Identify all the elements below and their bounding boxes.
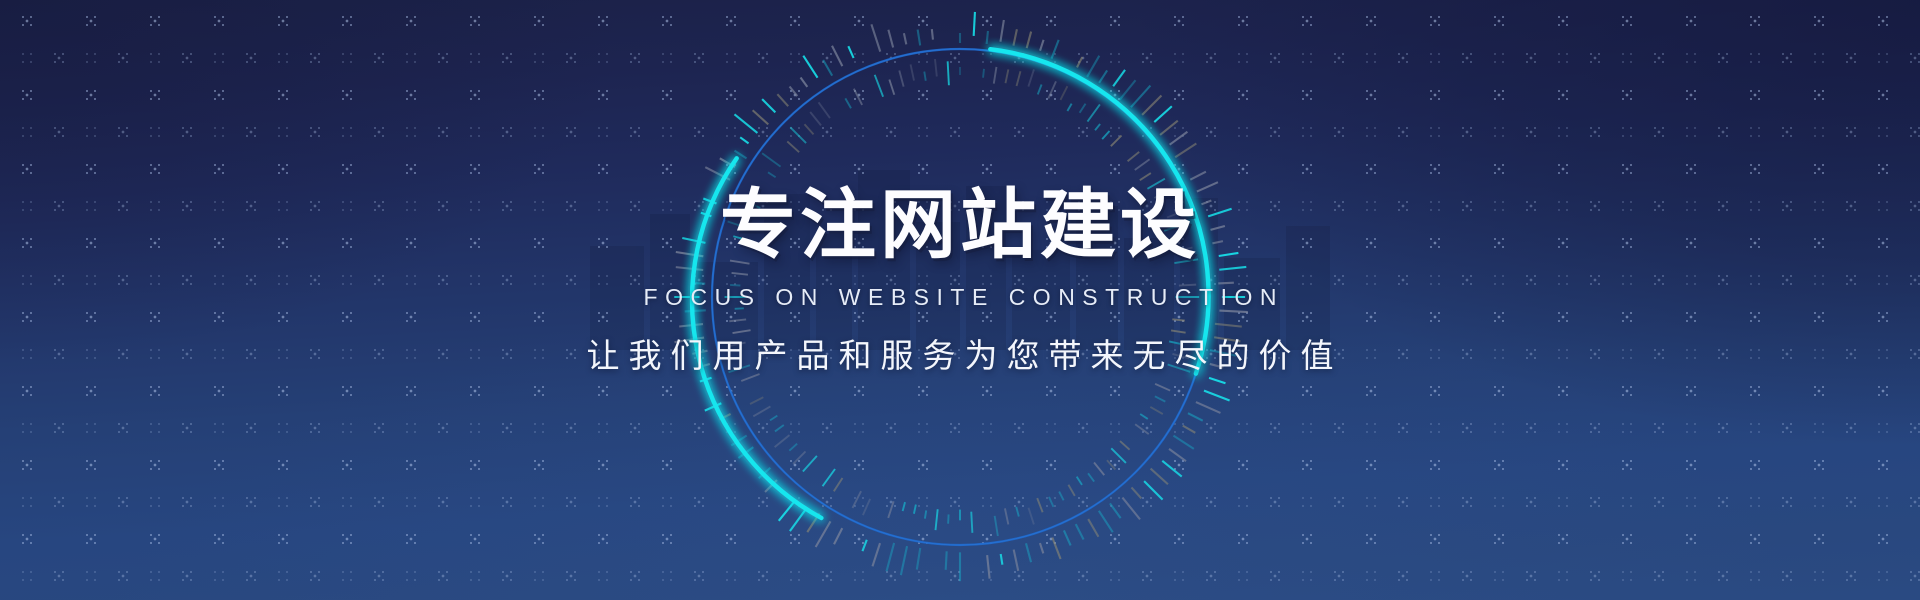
ring-tick bbox=[803, 456, 817, 472]
hero-banner: 专注网站建设 FOCUS ON WEBSITE CONSTRUCTION 让我们… bbox=[0, 0, 1920, 600]
ring-tick bbox=[741, 374, 759, 381]
ring-tick bbox=[740, 137, 748, 143]
ring-tick bbox=[803, 56, 817, 78]
ring-tick bbox=[1040, 543, 1043, 553]
ring-tick bbox=[1028, 508, 1033, 525]
ring-tick bbox=[823, 469, 835, 486]
ring-tick bbox=[848, 46, 853, 58]
ring-tick bbox=[1162, 461, 1181, 477]
ring-tick bbox=[819, 102, 830, 118]
ring-tick bbox=[1196, 402, 1221, 413]
ring-tick bbox=[801, 78, 808, 87]
banner-title: 专注网站建设 bbox=[0, 188, 1920, 264]
ring-tick bbox=[834, 478, 843, 491]
ring-tick bbox=[1113, 70, 1125, 86]
ring-tick bbox=[734, 114, 757, 133]
ring-tick bbox=[1151, 469, 1168, 485]
ring-tick bbox=[854, 89, 862, 105]
ring-tick bbox=[1088, 473, 1094, 481]
ring-tick bbox=[777, 94, 788, 106]
ring-tick bbox=[1140, 173, 1151, 180]
ring-tick bbox=[875, 75, 883, 97]
ring-tick bbox=[719, 414, 730, 420]
ring-tick bbox=[1102, 131, 1109, 139]
ring-tick bbox=[1160, 121, 1178, 135]
ring-tick bbox=[759, 468, 771, 478]
ring-tick bbox=[1144, 481, 1162, 499]
ring-tick bbox=[790, 87, 798, 97]
banner-text-block: 专注网站建设 FOCUS ON WEBSITE CONSTRUCTION 让我们… bbox=[0, 188, 1920, 372]
ring-tick bbox=[1000, 20, 1003, 42]
ring-tick bbox=[994, 67, 997, 84]
ring-tick bbox=[971, 512, 972, 533]
ring-tick bbox=[1110, 503, 1121, 518]
ring-tick bbox=[1099, 70, 1107, 82]
ring-tick bbox=[888, 501, 893, 518]
ring-tick bbox=[775, 425, 784, 431]
ring-tick bbox=[863, 499, 870, 515]
ring-tick bbox=[775, 435, 790, 447]
ring-tick bbox=[1170, 132, 1188, 145]
ring-tick bbox=[887, 543, 895, 571]
ring-tick bbox=[1068, 485, 1074, 496]
banner-subtitle: FOCUS ON WEBSITE CONSTRUCTION bbox=[0, 286, 1920, 309]
ring-tick bbox=[1135, 424, 1149, 434]
ring-tick bbox=[753, 406, 770, 416]
ring-tick bbox=[1111, 448, 1126, 463]
ring-tick bbox=[1052, 537, 1060, 559]
ring-tick bbox=[904, 33, 906, 44]
ring-tick bbox=[1087, 104, 1099, 121]
ring-tick bbox=[1173, 436, 1193, 449]
ring-tick bbox=[832, 46, 842, 66]
ring-tick bbox=[1111, 136, 1122, 147]
ring-tick bbox=[1120, 80, 1136, 99]
ring-tick bbox=[1204, 391, 1230, 401]
ring-tick bbox=[936, 509, 938, 530]
ring-tick bbox=[1067, 104, 1071, 111]
ring-tick bbox=[750, 397, 763, 404]
ring-tick bbox=[735, 151, 747, 159]
ring-tick bbox=[911, 64, 914, 80]
ring-tick bbox=[889, 80, 894, 95]
ring-tick bbox=[948, 61, 949, 85]
ring-tick bbox=[1087, 56, 1099, 77]
ring-tick bbox=[731, 436, 746, 446]
ring-tick bbox=[932, 29, 933, 40]
ring-tick bbox=[1052, 40, 1059, 59]
ring-tick bbox=[1080, 104, 1086, 113]
ring-tick bbox=[1088, 519, 1098, 537]
ring-tick bbox=[862, 540, 866, 551]
ring-tick bbox=[853, 491, 862, 508]
ring-tick bbox=[1095, 124, 1100, 130]
ring-tick bbox=[1038, 84, 1042, 94]
ring-tick bbox=[1142, 96, 1161, 115]
ring-tick bbox=[1076, 524, 1084, 539]
ring-tick bbox=[768, 172, 776, 177]
ring-tick bbox=[793, 452, 805, 464]
ring-tick bbox=[770, 416, 777, 421]
ring-tick bbox=[790, 127, 806, 143]
ring-tick bbox=[1001, 554, 1003, 565]
ring-tick bbox=[903, 502, 905, 511]
ring-tick bbox=[1120, 441, 1130, 450]
ring-tick bbox=[720, 158, 735, 167]
ring-tick bbox=[705, 167, 730, 180]
ring-tick bbox=[946, 551, 947, 570]
ring-tick bbox=[925, 510, 926, 518]
ring-tick bbox=[790, 508, 807, 531]
ring-tick bbox=[845, 98, 851, 108]
ring-tick bbox=[1013, 29, 1016, 45]
ring-tick bbox=[753, 110, 769, 124]
ring-tick bbox=[1175, 144, 1196, 158]
ring-tick bbox=[1099, 511, 1113, 532]
ring-tick bbox=[1064, 530, 1071, 545]
ring-tick bbox=[1005, 69, 1008, 83]
ring-tick bbox=[1077, 477, 1082, 485]
ring-tick bbox=[1155, 396, 1165, 401]
ring-tick bbox=[1122, 498, 1140, 520]
ring-tick bbox=[700, 378, 712, 382]
ring-tick bbox=[1005, 508, 1008, 524]
ring-tick bbox=[888, 30, 893, 48]
ring-tick bbox=[1027, 32, 1031, 49]
ring-tick bbox=[924, 72, 925, 81]
ring-tick bbox=[918, 30, 921, 46]
banner-tagline: 让我们用产品和服务为您带来无尽的价值 bbox=[0, 339, 1920, 372]
ring-tick bbox=[779, 500, 796, 520]
ring-tick bbox=[1155, 384, 1170, 391]
ring-tick bbox=[987, 31, 988, 44]
ring-tick bbox=[762, 99, 775, 112]
ring-tick bbox=[1154, 106, 1172, 122]
ring-tick bbox=[871, 24, 880, 51]
ring-tick bbox=[1094, 463, 1104, 476]
ring-tick bbox=[834, 528, 842, 544]
ring-tick bbox=[762, 153, 780, 166]
ring-tick bbox=[816, 521, 831, 547]
ring-tick bbox=[1014, 550, 1019, 571]
ring-tick bbox=[983, 69, 984, 78]
ring-tick bbox=[765, 480, 777, 492]
ring-tick bbox=[810, 112, 821, 125]
ring-tick bbox=[1049, 497, 1053, 507]
ring-tick bbox=[787, 141, 799, 152]
ring-tick bbox=[917, 548, 920, 570]
ring-tick bbox=[872, 543, 880, 566]
ring-tick bbox=[1209, 378, 1225, 383]
ring-tick bbox=[995, 516, 998, 536]
ring-tick bbox=[1150, 407, 1163, 414]
ring-tick bbox=[1188, 413, 1203, 421]
ring-tick bbox=[935, 59, 937, 76]
ring-tick bbox=[1048, 81, 1056, 98]
ring-tick bbox=[901, 546, 907, 575]
ring-tick bbox=[789, 444, 797, 451]
ring-tick bbox=[1131, 487, 1141, 498]
ring-tick bbox=[1140, 414, 1148, 419]
ring-tick bbox=[1169, 449, 1186, 461]
ring-tick bbox=[804, 124, 813, 134]
ring-tick bbox=[1026, 543, 1031, 562]
ring-tick bbox=[1190, 172, 1206, 180]
ring-tick bbox=[899, 70, 903, 86]
ring-tick bbox=[1040, 40, 1044, 51]
ring-tick bbox=[987, 555, 989, 579]
ring-tick bbox=[823, 60, 832, 76]
ring-tick bbox=[1028, 69, 1034, 86]
ring-tick bbox=[974, 12, 975, 36]
ring-tick bbox=[1128, 152, 1140, 161]
ring-tick bbox=[1135, 159, 1150, 170]
ring-tick bbox=[1183, 426, 1196, 433]
ring-tick bbox=[1107, 460, 1115, 469]
ring-tick bbox=[1077, 57, 1082, 67]
ring-tick bbox=[914, 505, 916, 514]
ring-tick bbox=[807, 513, 819, 532]
ring-tick bbox=[1131, 86, 1150, 108]
ring-tick bbox=[1016, 507, 1019, 517]
ring-tick bbox=[738, 447, 753, 458]
ring-tick bbox=[1059, 492, 1063, 501]
ring-tick bbox=[705, 403, 722, 410]
ring-tick bbox=[1017, 71, 1021, 86]
ring-tick bbox=[1037, 498, 1042, 512]
ring-tick bbox=[1060, 86, 1067, 100]
